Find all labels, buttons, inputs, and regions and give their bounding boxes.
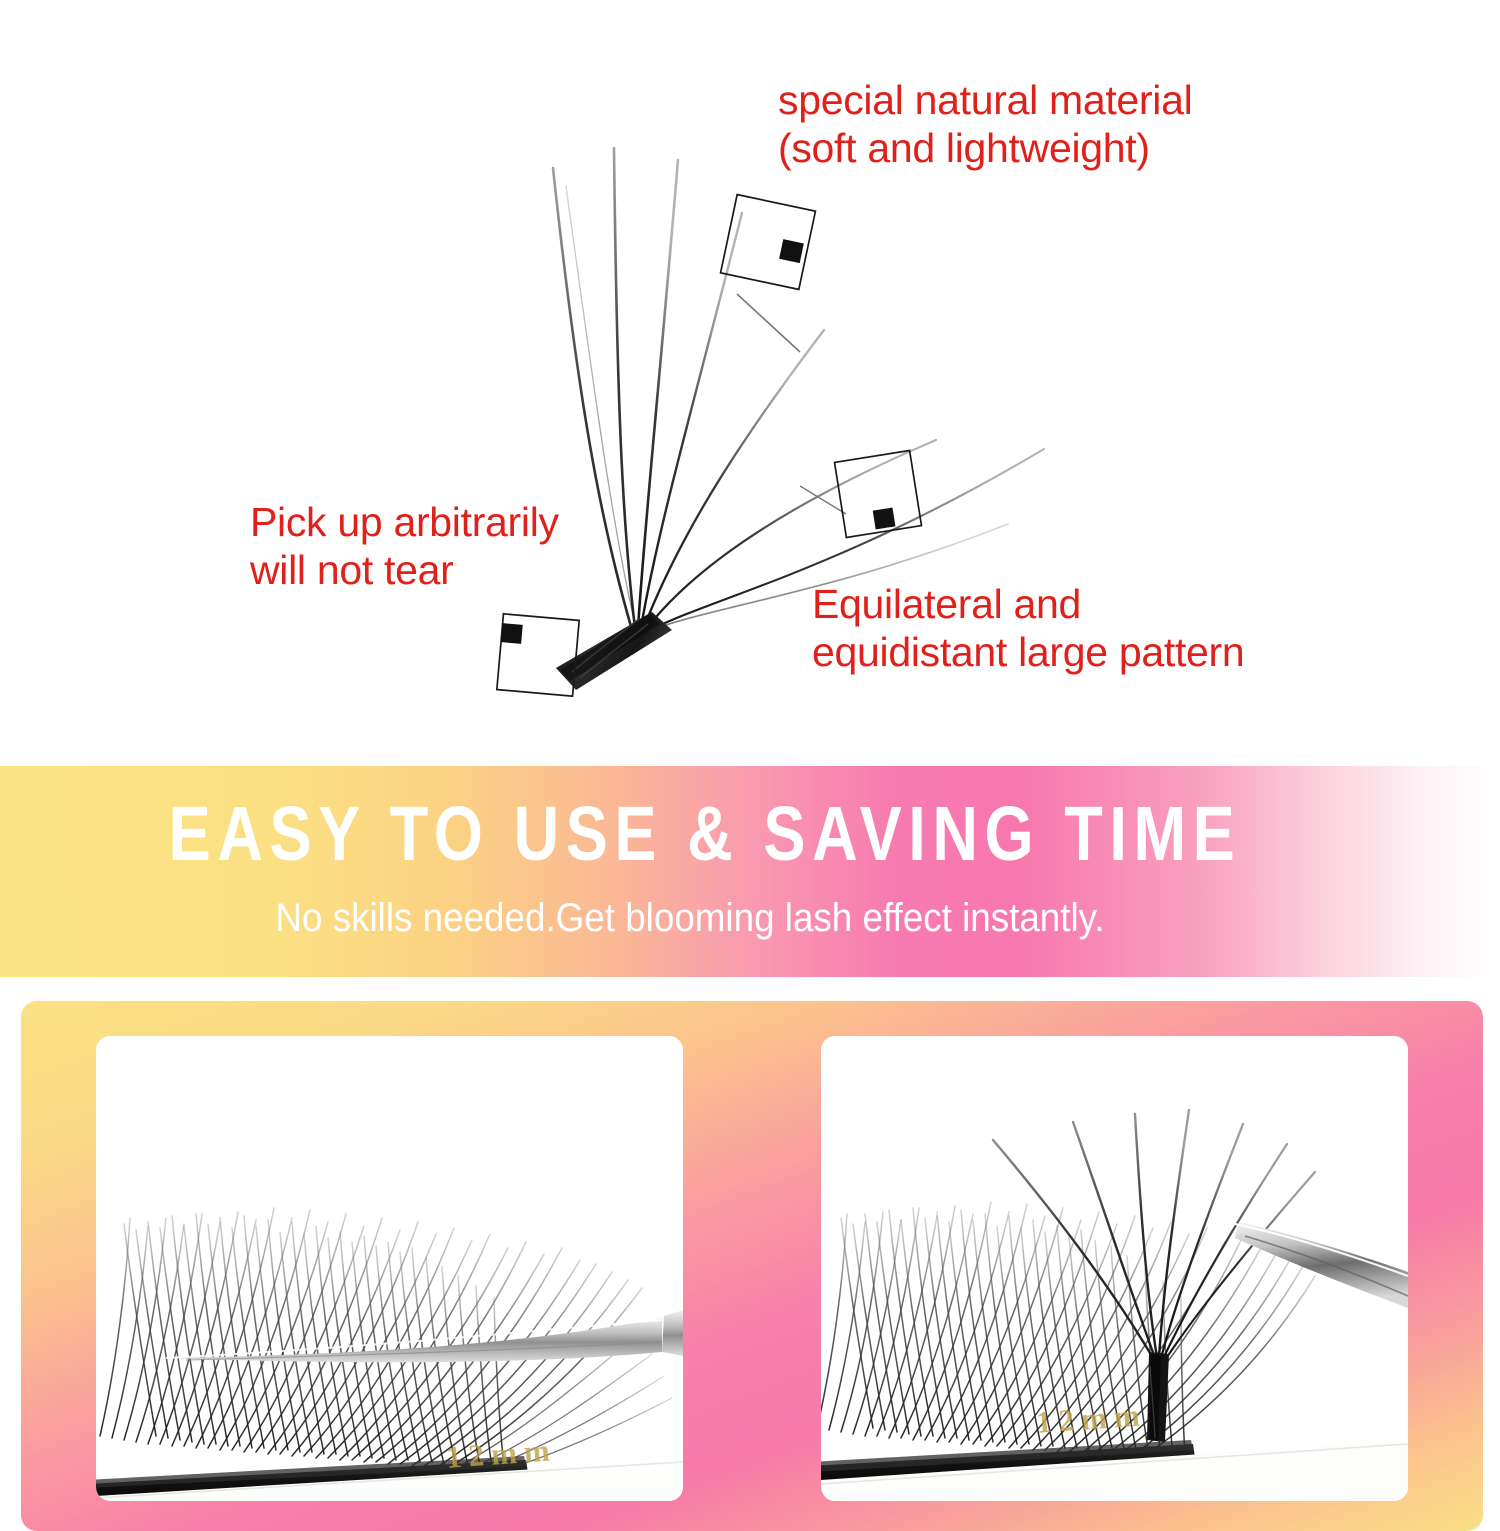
photo-panel-lash-fan-lifted: 12mm: [821, 1036, 1408, 1501]
photo-panel-lash-tray: 12mm: [96, 1036, 683, 1501]
lash-strand-group: [553, 148, 1044, 632]
callout-marker-top: [721, 195, 816, 352]
banner-subheadline: No skills needed.Get blooming lash effec…: [55, 896, 1325, 941]
callout-marker-base: [497, 614, 579, 696]
tray-size-label-right: 12mm: [1035, 1397, 1148, 1441]
photo-gallery-frame: 12mm: [21, 1001, 1483, 1531]
tray-size-label-left: 12mm: [445, 1432, 558, 1476]
callout-equilateral-equidistant: Equilateral and equidistant large patter…: [812, 580, 1244, 677]
banner-headline: EASY TO USE & SAVING TIME: [127, 790, 1283, 879]
lash-tray-photo: [96, 1036, 683, 1501]
lash-fan-illustration: [0, 0, 1500, 765]
callout-special-natural-material: special natural material (soft and light…: [778, 76, 1192, 173]
callout-pick-up-arbitrarily: Pick up arbitrarily will not tear: [250, 498, 559, 595]
lash-diagram-section: special natural material (soft and light…: [0, 0, 1500, 765]
easy-to-use-banner: EASY TO USE & SAVING TIME No skills need…: [0, 766, 1500, 977]
